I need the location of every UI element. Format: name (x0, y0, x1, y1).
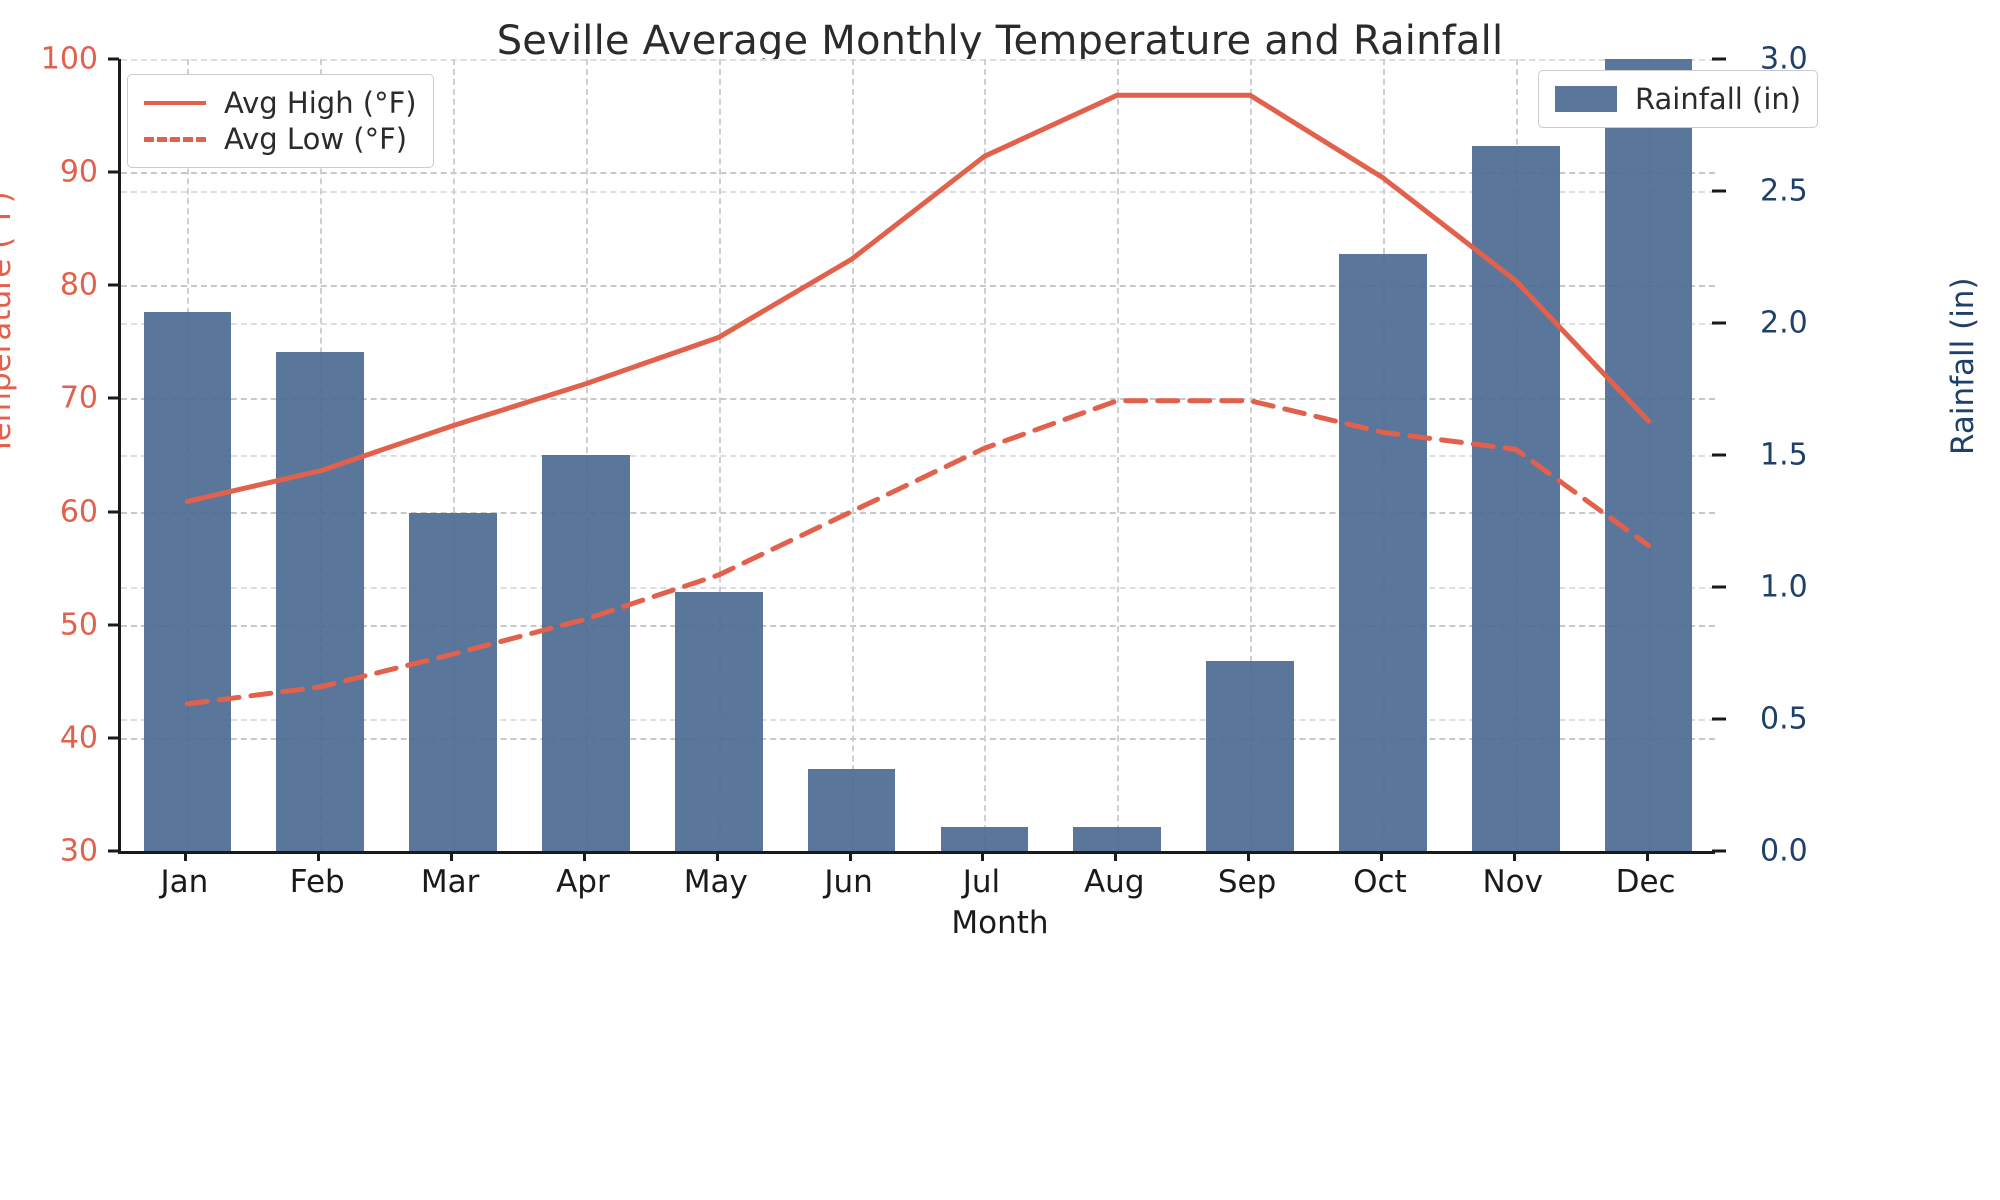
x-tick-label-aug: Aug (1084, 864, 1145, 900)
chart-title: Seville Average Monthly Temperature and … (0, 18, 2000, 64)
x-tick-label-jan: Jan (161, 864, 209, 900)
bar-swatch-icon (1555, 86, 1617, 112)
y-tick-label-left: 100 (41, 42, 98, 77)
y-tick-label-right: 2.5 (1760, 174, 1808, 209)
x-tick-mark (716, 851, 719, 861)
legend-item-label: Rainfall (in) (1635, 82, 1801, 116)
line-solid-swatch-icon (144, 101, 206, 105)
x-tick-mark (1380, 851, 1383, 861)
x-tick-mark (849, 851, 852, 861)
x-tick-mark (1247, 851, 1250, 861)
x-tick-mark (317, 851, 320, 861)
y-tick-label-right: 0.5 (1760, 702, 1808, 737)
y-tick-label-left: 40 (60, 720, 98, 755)
y-tick-label-right: 0.0 (1760, 834, 1808, 869)
y-tick-label-right: 2.0 (1760, 306, 1808, 341)
legend-item: Avg Low (°F) (144, 121, 417, 157)
legend-item-label: Avg High (°F) (224, 86, 417, 120)
y-tick-mark-left (108, 736, 119, 739)
x-tick-mark (450, 851, 453, 861)
x-tick-label-oct: Oct (1353, 864, 1407, 900)
y-tick-mark-left (108, 850, 119, 853)
x-tick-label-jul: Jul (963, 864, 1000, 900)
y-tick-mark-right (1712, 190, 1726, 193)
x-axis-label: Month (0, 905, 2000, 941)
y-axis-left-label: Temperature (°F) (0, 191, 18, 455)
x-tick-label-nov: Nov (1482, 864, 1543, 900)
y-tick-mark-right (1712, 454, 1726, 457)
y-tick-label-left: 50 (60, 607, 98, 642)
legend-item: Avg High (°F) (144, 85, 417, 121)
x-tick-label-mar: Mar (421, 864, 480, 900)
plot-area (118, 59, 1715, 854)
y-tick-mark-right (1712, 58, 1726, 61)
y-tick-mark-left (108, 510, 119, 513)
chart-figure: Seville Average Monthly Temperature and … (0, 0, 2000, 1200)
y-tick-label-left: 60 (60, 494, 98, 529)
x-tick-label-may: May (684, 864, 748, 900)
y-tick-mark-right (1712, 850, 1726, 853)
x-tick-label-sep: Sep (1218, 864, 1276, 900)
line-avg-low (187, 401, 1648, 704)
y-tick-label-right: 1.0 (1760, 570, 1808, 605)
y-tick-mark-left (108, 58, 119, 61)
line-series-layer (121, 59, 1715, 851)
y-tick-label-left: 30 (60, 834, 98, 869)
y-tick-mark-right (1712, 586, 1726, 589)
y-tick-mark-left (108, 623, 119, 626)
y-tick-label-left: 80 (60, 268, 98, 303)
y-tick-mark-left (108, 397, 119, 400)
y-tick-mark-right (1712, 322, 1726, 325)
x-tick-mark (1646, 851, 1649, 861)
x-tick-mark (981, 851, 984, 861)
y-axis-right-label: Rainfall (in) (1945, 277, 1981, 455)
legend-rainfall[interactable]: Rainfall (in) (1538, 70, 1818, 128)
x-tick-label-apr: Apr (556, 864, 610, 900)
y-tick-label-right: 1.5 (1760, 438, 1808, 473)
x-tick-label-dec: Dec (1616, 864, 1676, 900)
y-tick-mark-left (108, 171, 119, 174)
y-tick-label-left: 70 (60, 381, 98, 416)
y-tick-mark-left (108, 284, 119, 287)
y-tick-label-left: 90 (60, 155, 98, 190)
x-tick-mark (1114, 851, 1117, 861)
line-dashed-swatch-icon (144, 137, 206, 142)
y-tick-mark-right (1712, 718, 1726, 721)
legend-item: Rainfall (in) (1555, 81, 1801, 117)
x-tick-label-jun: Jun (824, 864, 872, 900)
x-tick-label-feb: Feb (290, 864, 345, 900)
legend-item-label: Avg Low (°F) (224, 122, 407, 156)
legend-temperature[interactable]: Avg High (°F) Avg Low (°F) (127, 74, 434, 168)
x-tick-mark (583, 851, 586, 861)
x-tick-mark (1513, 851, 1516, 861)
x-tick-mark (184, 851, 187, 861)
